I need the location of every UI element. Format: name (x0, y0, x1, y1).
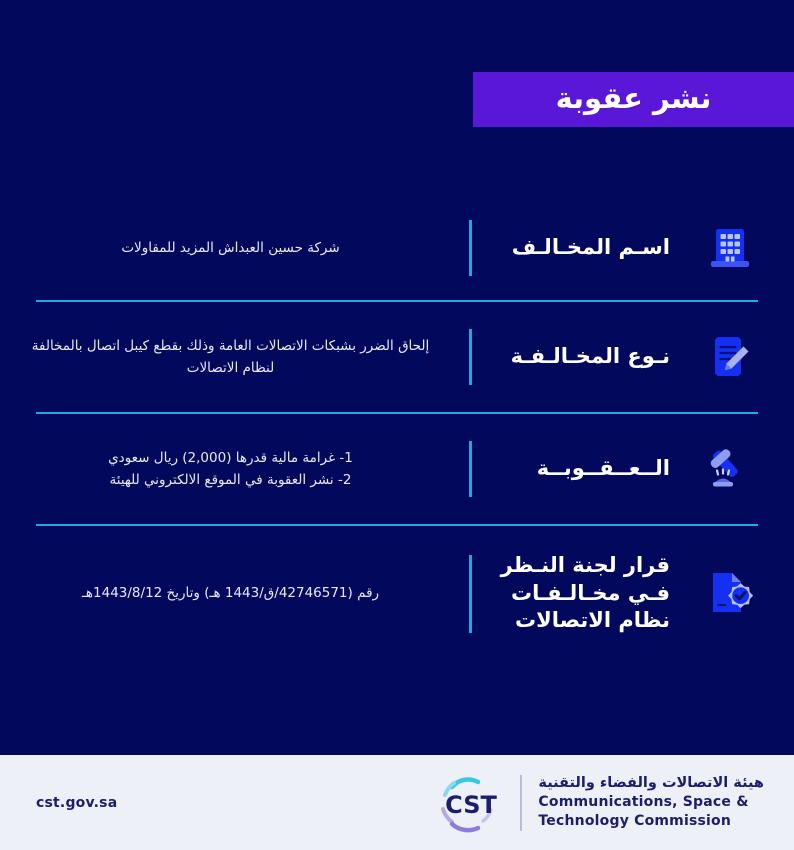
row-label-cell: الــعــقــوبــة (469, 455, 674, 483)
org-name-ar: هيئة الاتصالات والفضاء والتقنية (538, 774, 764, 794)
label-divider (469, 441, 472, 497)
row-label-cell: اسـم المخـالـف (469, 234, 674, 262)
row-label-cell: نـوع المخـالـفـة (469, 343, 674, 371)
table-row: الــعــقــوبــة 1- غرامة مالية قدرها (2,… (0, 414, 794, 524)
org-name-en-line2: Technology Commission (538, 812, 764, 831)
row-value-cell: شركة حسين العبداش المزيد للمقاولات (0, 237, 469, 259)
table-row: نـوع المخـالـفـة إلحاق الضرر بشبكات الات… (0, 302, 794, 412)
document-approved-icon (703, 567, 757, 621)
row-value-cell: 1- غرامة مالية قدرها (2,000) ريال سعودي … (0, 447, 469, 492)
row-label: اسـم المخـالـف (485, 234, 670, 262)
row-label: الــعــقــوبــة (485, 455, 670, 483)
logo-separator (520, 775, 522, 831)
row-value-cell: رقم (42746571/ق/1443 هـ) وتاريخ 1443/8/1… (0, 582, 469, 604)
row-label: نـوع المخـالـفـة (485, 343, 670, 371)
row-value: رقم (42746571/ق/1443 هـ) وتاريخ 1443/8/1… (82, 582, 379, 604)
cst-logo-text: CST (446, 791, 498, 819)
header-banner: نشر عقوبة (473, 72, 794, 127)
row-value-cell: إلحاق الضرر بشبكات الاتصالات العامة وذلك… (0, 335, 469, 380)
footer-branding: CST هيئة الاتصالات والفضاء والتقنية Comm… (434, 771, 764, 835)
table-row: اسـم المخـالـف شركة حسين العبداش المزيد … (0, 196, 794, 300)
org-names: هيئة الاتصالات والفضاء والتقنية Communic… (538, 774, 764, 831)
org-name-en-line1: Communications, Space & (538, 793, 764, 812)
row-icon-cell (674, 330, 794, 384)
page-title: نشر عقوبة (556, 84, 712, 116)
row-value: 1- غرامة مالية قدرها (2,000) ريال سعودي … (108, 447, 353, 492)
gavel-icon (703, 442, 757, 496)
footer-bar: cst.gov.sa CST هيئة الاتصالات والفضاء وا… (0, 755, 794, 850)
row-icon-cell (674, 221, 794, 275)
label-divider (469, 220, 472, 276)
details-list: اسـم المخـالـف شركة حسين العبداش المزيد … (0, 196, 794, 661)
label-divider (469, 329, 472, 385)
row-value: إلحاق الضرر بشبكات الاتصالات العامة وذلك… (32, 335, 429, 380)
label-divider (469, 555, 472, 633)
row-label: قرار لجنة النـظر فـي مخـالـفـات نظام الا… (485, 552, 670, 635)
footer-website[interactable]: cst.gov.sa (36, 795, 117, 811)
row-label-cell: قرار لجنة النـظر فـي مخـالـفـات نظام الا… (469, 552, 674, 635)
cst-logo-icon: CST (434, 771, 508, 835)
row-value: شركة حسين العبداش المزيد للمقاولات (121, 237, 339, 259)
penalty-publication-card: نشر عقوبة (0, 0, 794, 850)
row-icon-cell (674, 442, 794, 496)
table-row: قرار لجنة النـظر فـي مخـالـفـات نظام الا… (0, 526, 794, 661)
building-icon (703, 221, 757, 275)
document-pen-icon (703, 330, 757, 384)
row-icon-cell (674, 567, 794, 621)
